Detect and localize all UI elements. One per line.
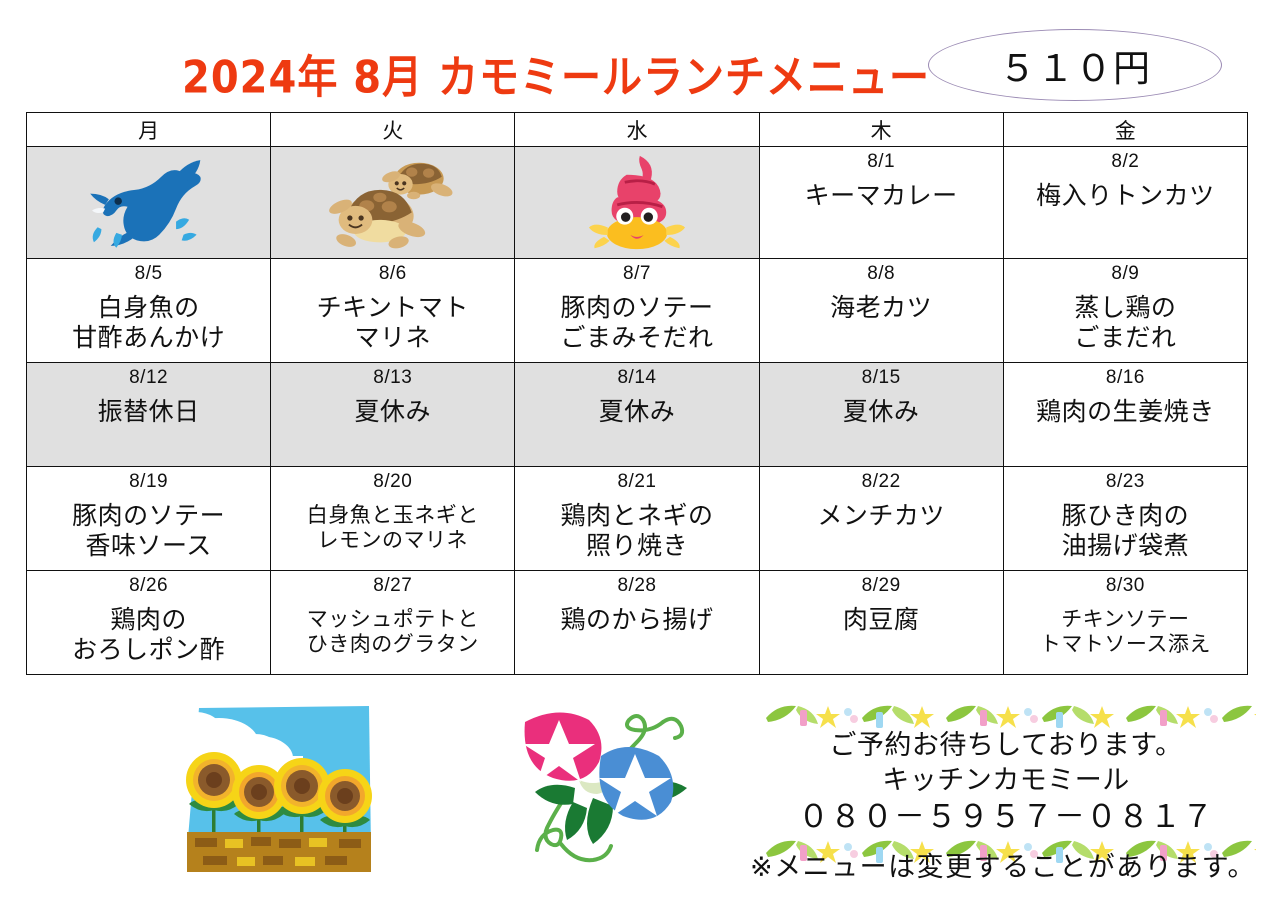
weekday-header-tue: 火	[271, 113, 515, 147]
calendar-day-cell: 8/26鶏肉の おろしポン酢	[27, 571, 271, 675]
sea-turtles-illustration	[271, 147, 515, 259]
day-menu-item: マッシュポテトと ひき肉のグラタン	[271, 597, 514, 657]
day-menu-item: 振替休日	[27, 389, 270, 427]
hermit-crab-illustration	[515, 147, 759, 259]
footer-contact-block: ご予約お待ちしております。 キッチンカモミール ０８０－５９５７－０８１７	[756, 700, 1256, 865]
calendar-day-cell: 8/2梅入りトンカツ	[1003, 147, 1247, 259]
calendar-day-cell: 8/29肉豆腐	[759, 571, 1003, 675]
day-date: 8/29	[760, 571, 1003, 597]
day-menu-item: チキントマト マリネ	[271, 285, 514, 353]
calendar-day-cell: 8/1キーマカレー	[759, 147, 1003, 259]
calendar-week-row: 8/5白身魚の 甘酢あんかけ8/6チキントマト マリネ8/7豚肉のソテー ごまみ…	[27, 259, 1248, 363]
day-date: 8/1	[760, 147, 1003, 173]
sunflower-field-illustration	[163, 700, 393, 878]
day-date: 8/12	[27, 363, 270, 389]
day-menu-item: チキンソテー トマトソース添え	[1004, 597, 1247, 657]
calendar-week-row: 8/12振替休日8/13夏休み8/14夏休み8/15夏休み8/16鶏肉の生姜焼き	[27, 363, 1248, 467]
day-menu-item: キーマカレー	[760, 173, 1003, 211]
day-menu-item: 海老カツ	[760, 285, 1003, 323]
calendar-day-cell: 8/30チキンソテー トマトソース添え	[1003, 571, 1247, 675]
calendar-header-row: 月 火 水 木 金	[27, 113, 1248, 147]
day-menu-item: 蒸し鶏の ごまだれ	[1004, 285, 1247, 353]
price-label: ５１０円	[929, 30, 1221, 100]
day-date: 8/15	[760, 363, 1003, 389]
calendar-week-row: 8/26鶏肉の おろしポン酢8/27マッシュポテトと ひき肉のグラタン8/28鶏…	[27, 571, 1248, 675]
day-date: 8/21	[515, 467, 758, 493]
day-menu-item: 豚ひき肉の 油揚げ袋煮	[1004, 493, 1247, 561]
day-menu-item: 肉豆腐	[760, 597, 1003, 635]
day-date: 8/5	[27, 259, 270, 285]
day-date: 8/14	[515, 363, 758, 389]
calendar-week-row: 8/1キーマカレー8/2梅入りトンカツ	[27, 147, 1248, 259]
calendar-day-cell: 8/9蒸し鶏の ごまだれ	[1003, 259, 1247, 363]
weekday-header-wed: 水	[515, 113, 759, 147]
calendar-day-cell: 8/21鶏肉とネギの 照り焼き	[515, 467, 759, 571]
calendar-day-cell: 8/14夏休み	[515, 363, 759, 467]
tanabata-decoration-top-icon	[756, 700, 1256, 730]
price-badge: ５１０円	[928, 29, 1222, 101]
day-date: 8/22	[760, 467, 1003, 493]
day-date: 8/13	[271, 363, 514, 389]
day-menu-item: 鶏肉の生姜焼き	[1004, 389, 1247, 427]
morning-glory-illustration	[497, 694, 697, 884]
day-date: 8/16	[1004, 363, 1247, 389]
calendar-day-cell: 8/19豚肉のソテー 香味ソース	[27, 467, 271, 571]
hermit-crab-illustration-icon	[515, 147, 758, 258]
calendar-day-cell: 8/8海老カツ	[759, 259, 1003, 363]
calendar-day-cell: 8/27マッシュポテトと ひき肉のグラタン	[271, 571, 515, 675]
calendar-body: 8/1キーマカレー8/2梅入りトンカツ8/5白身魚の 甘酢あんかけ8/6チキント…	[27, 147, 1248, 675]
weekday-header-mon: 月	[27, 113, 271, 147]
day-date: 8/6	[271, 259, 514, 285]
reservation-message: ご予約お待ちしております。	[756, 728, 1256, 763]
calendar-day-cell: 8/23豚ひき肉の 油揚げ袋煮	[1003, 467, 1247, 571]
weekday-header-thu: 木	[759, 113, 1003, 147]
page-title: 2024年 8月 カモミールランチメニュー	[182, 41, 930, 106]
day-date: 8/26	[27, 571, 270, 597]
calendar-day-cell: 8/16鶏肉の生姜焼き	[1003, 363, 1247, 467]
day-menu-item: 鶏肉の おろしポン酢	[27, 597, 270, 665]
day-date: 8/20	[271, 467, 514, 493]
day-date: 8/19	[27, 467, 270, 493]
day-menu-item: 梅入りトンカツ	[1004, 173, 1247, 211]
calendar-day-cell: 8/20白身魚と玉ネギと レモンのマリネ	[271, 467, 515, 571]
calendar-day-cell: 8/6チキントマト マリネ	[271, 259, 515, 363]
calendar-day-cell: 8/5白身魚の 甘酢あんかけ	[27, 259, 271, 363]
sea-turtles-illustration-icon	[271, 147, 514, 258]
dolphin-illustration	[27, 147, 271, 259]
day-menu-item: 鶏のから揚げ	[515, 597, 758, 635]
day-menu-item: 鶏肉とネギの 照り焼き	[515, 493, 758, 561]
lunch-menu-calendar: 月 火 水 木 金 8/1キーマカレー8/2梅入りトンカツ8/5白身魚の 甘酢あ…	[26, 112, 1248, 675]
day-date: 8/2	[1004, 147, 1247, 173]
calendar-day-cell: 8/15夏休み	[759, 363, 1003, 467]
day-menu-item: 夏休み	[515, 389, 758, 427]
menu-change-note: ※メニューは変更することがあります。	[748, 845, 1258, 884]
phone-number[interactable]: ０８０－５９５７－０８１７	[756, 798, 1256, 835]
day-menu-item: 豚肉のソテー 香味ソース	[27, 493, 270, 561]
calendar-week-row: 8/19豚肉のソテー 香味ソース8/20白身魚と玉ネギと レモンのマリネ8/21…	[27, 467, 1248, 571]
dolphin-illustration-icon	[27, 147, 270, 258]
calendar-day-cell: 8/12振替休日	[27, 363, 271, 467]
day-date: 8/8	[760, 259, 1003, 285]
calendar-day-cell: 8/7豚肉のソテー ごまみそだれ	[515, 259, 759, 363]
shop-name: キッチンカモミール	[756, 763, 1256, 798]
day-date: 8/23	[1004, 467, 1247, 493]
day-menu-item: 白身魚の 甘酢あんかけ	[27, 285, 270, 353]
calendar-day-cell: 8/22メンチカツ	[759, 467, 1003, 571]
page-header: 2024年 8月 カモミールランチメニュー ５１０円	[0, 0, 1280, 108]
day-date: 8/7	[515, 259, 758, 285]
weekday-header-fri: 金	[1003, 113, 1247, 147]
day-menu-item: 白身魚と玉ネギと レモンのマリネ	[271, 493, 514, 553]
calendar-day-cell: 8/28鶏のから揚げ	[515, 571, 759, 675]
day-menu-item: 夏休み	[760, 389, 1003, 427]
day-menu-item: 夏休み	[271, 389, 514, 427]
calendar-day-cell: 8/13夏休み	[271, 363, 515, 467]
day-menu-item: メンチカツ	[760, 493, 1003, 531]
day-date: 8/27	[271, 571, 514, 597]
day-date: 8/9	[1004, 259, 1247, 285]
day-menu-item: 豚肉のソテー ごまみそだれ	[515, 285, 758, 353]
day-date: 8/30	[1004, 571, 1247, 597]
day-date: 8/28	[515, 571, 758, 597]
